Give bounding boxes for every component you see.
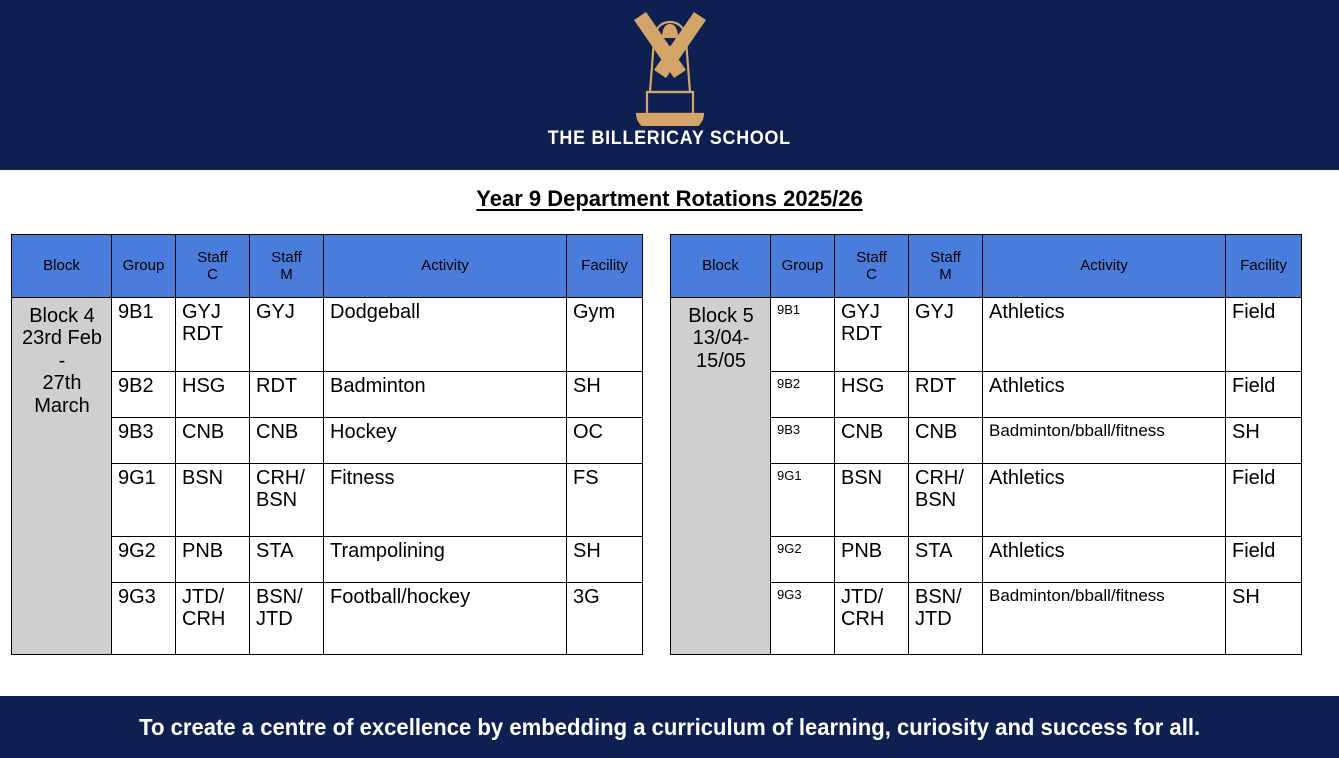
footer-banner: To create a centre of excellence by embe… bbox=[0, 696, 1339, 758]
header-banner: THE BILLERICAY SCHOOL bbox=[0, 0, 1339, 170]
cell-staff-m: RDT bbox=[250, 372, 324, 418]
cell-activity: Trampolining bbox=[324, 537, 567, 583]
column-header-block: Block bbox=[12, 235, 112, 298]
cell-facility: Field bbox=[1226, 537, 1302, 583]
cell-staff-c: GYJ RDT bbox=[176, 298, 250, 372]
cell-staff-m: STA bbox=[909, 537, 983, 583]
footer-motto: To create a centre of excellence by embe… bbox=[139, 714, 1200, 741]
cell-activity: Badminton/bball/fitness bbox=[983, 418, 1226, 464]
cell-staff-m: CNB bbox=[909, 418, 983, 464]
cell-group: 9B3 bbox=[112, 418, 176, 464]
cell-group: 9B3 bbox=[771, 418, 835, 464]
cell-activity: Badminton/bball/fitness bbox=[983, 583, 1226, 655]
cell-staff-m: GYJ bbox=[909, 298, 983, 372]
page-title: Year 9 Department Rotations 2025/26 bbox=[0, 186, 1339, 212]
cell-facility: 3G bbox=[567, 583, 643, 655]
cell-group: 9B1 bbox=[112, 298, 176, 372]
rotation-table-block-5: Block Group Staff C Staff M Activity Fac… bbox=[670, 234, 1302, 655]
table-header-row: Block Group Staff C Staff M Activity Fac… bbox=[12, 235, 643, 298]
table-row: Block 5 13/04- 15/05 9B1 GYJ RDT GYJ Ath… bbox=[671, 298, 1302, 372]
cell-facility: SH bbox=[1226, 583, 1302, 655]
cell-staff-m: CRH/ BSN bbox=[250, 464, 324, 537]
column-header-staff-m: Staff M bbox=[250, 235, 324, 298]
cell-staff-m: CRH/ BSN bbox=[909, 464, 983, 537]
cell-activity: Badminton bbox=[324, 372, 567, 418]
cell-staff-c: BSN bbox=[176, 464, 250, 537]
cell-group: 9B2 bbox=[112, 372, 176, 418]
column-header-staff-c: Staff C bbox=[835, 235, 909, 298]
column-header-facility: Facility bbox=[1226, 235, 1302, 298]
column-header-activity: Activity bbox=[324, 235, 567, 298]
cell-group: 9B1 bbox=[771, 298, 835, 372]
cell-activity: Football/hockey bbox=[324, 583, 567, 655]
rotation-table-block-4: Block Group Staff C Staff M Activity Fac… bbox=[11, 234, 643, 655]
cell-group: 9G2 bbox=[112, 537, 176, 583]
block-label-cell: Block 4 23rd Feb - 27th March bbox=[12, 298, 112, 655]
column-header-activity: Activity bbox=[983, 235, 1226, 298]
cell-activity: Athletics bbox=[983, 464, 1226, 537]
cell-facility: Field bbox=[1226, 464, 1302, 537]
cell-staff-m: RDT bbox=[909, 372, 983, 418]
cell-group: 9G3 bbox=[771, 583, 835, 655]
school-name: THE BILLERICAY SCHOOL bbox=[548, 128, 791, 150]
cell-group: 9G1 bbox=[771, 464, 835, 537]
cell-facility: Field bbox=[1226, 372, 1302, 418]
cell-staff-m: STA bbox=[250, 537, 324, 583]
cell-group: 9G1 bbox=[112, 464, 176, 537]
column-header-group: Group bbox=[112, 235, 176, 298]
table-header-row: Block Group Staff C Staff M Activity Fac… bbox=[671, 235, 1302, 298]
cell-activity: Hockey bbox=[324, 418, 567, 464]
cell-group: 9B2 bbox=[771, 372, 835, 418]
cell-facility: OC bbox=[567, 418, 643, 464]
cell-activity: Dodgeball bbox=[324, 298, 567, 372]
column-header-facility: Facility bbox=[567, 235, 643, 298]
cell-staff-c: JTD/ CRH bbox=[176, 583, 250, 655]
table-row: Block 4 23rd Feb - 27th March 9B1 GYJ RD… bbox=[12, 298, 643, 372]
cell-staff-c: JTD/ CRH bbox=[835, 583, 909, 655]
rotations-tables: Block Group Staff C Staff M Activity Fac… bbox=[0, 234, 1339, 654]
cell-staff-c: GYJ RDT bbox=[835, 298, 909, 372]
cell-facility: Field bbox=[1226, 298, 1302, 372]
column-header-staff-c: Staff C bbox=[176, 235, 250, 298]
cell-facility: Gym bbox=[567, 298, 643, 372]
cell-staff-m: CNB bbox=[250, 418, 324, 464]
cell-activity: Athletics bbox=[983, 372, 1226, 418]
cell-staff-c: CNB bbox=[835, 418, 909, 464]
cell-staff-c: CNB bbox=[176, 418, 250, 464]
cell-staff-c: PNB bbox=[835, 537, 909, 583]
cell-activity: Athletics bbox=[983, 298, 1226, 372]
cell-staff-c: BSN bbox=[835, 464, 909, 537]
block-label-cell: Block 5 13/04- 15/05 bbox=[671, 298, 771, 655]
cell-staff-m: GYJ bbox=[250, 298, 324, 372]
cell-staff-c: HSG bbox=[176, 372, 250, 418]
cell-staff-m: BSN/ JTD bbox=[909, 583, 983, 655]
column-header-group: Group bbox=[771, 235, 835, 298]
cell-facility: SH bbox=[1226, 418, 1302, 464]
cell-staff-m: BSN/ JTD bbox=[250, 583, 324, 655]
cell-facility: SH bbox=[567, 537, 643, 583]
column-header-block: Block bbox=[671, 235, 771, 298]
cell-activity: Fitness bbox=[324, 464, 567, 537]
cell-staff-c: HSG bbox=[835, 372, 909, 418]
cell-activity: Athletics bbox=[983, 537, 1226, 583]
windmill-logo-icon bbox=[600, 8, 740, 126]
column-header-staff-m: Staff M bbox=[909, 235, 983, 298]
cell-staff-c: PNB bbox=[176, 537, 250, 583]
cell-facility: SH bbox=[567, 372, 643, 418]
cell-facility: FS bbox=[567, 464, 643, 537]
cell-group: 9G3 bbox=[112, 583, 176, 655]
cell-group: 9G2 bbox=[771, 537, 835, 583]
